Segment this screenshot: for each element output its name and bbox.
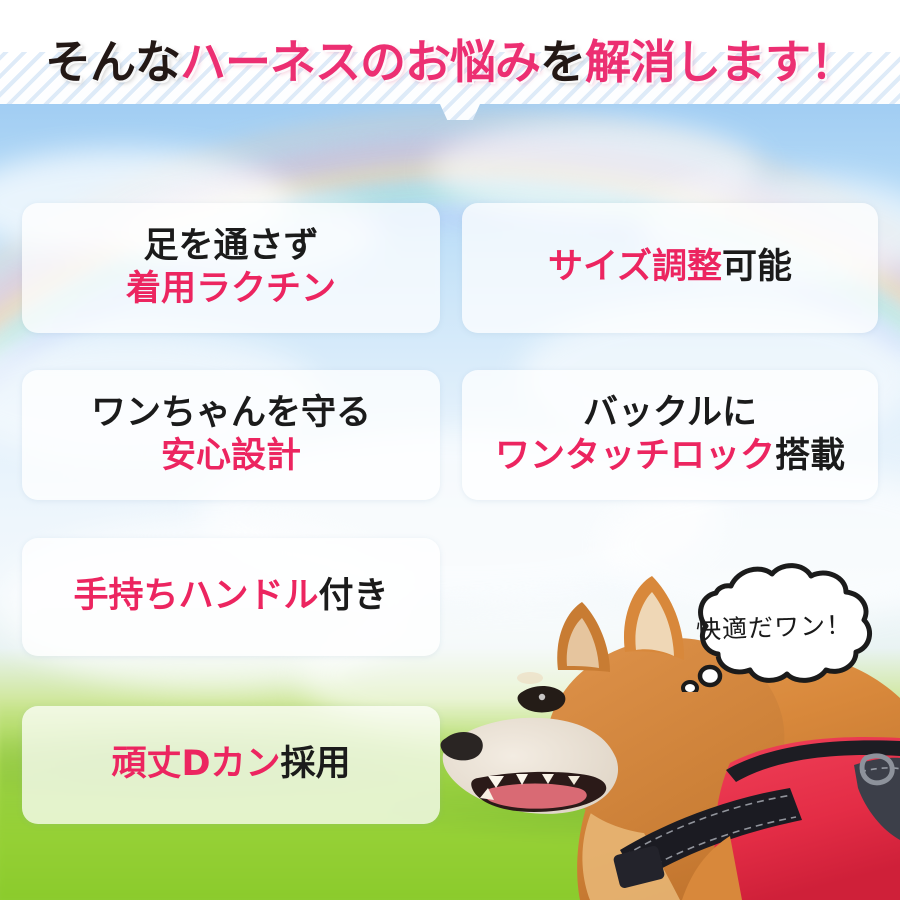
- feature-text-no-leg-insert-1-0: 着用ラクチン: [126, 269, 336, 309]
- feature-line: ワンちゃんを守る: [91, 392, 371, 435]
- feature-text-one-touch-lock-buckle-1-1: 搭載: [775, 436, 845, 476]
- feature-box-size-adjustable[interactable]: サイズ調整可能: [462, 203, 878, 333]
- page-title-segment-2: を: [540, 26, 585, 92]
- page-title-segment-0: そんな: [45, 26, 180, 92]
- page-title-segment-3: 解消します！: [585, 26, 855, 92]
- feature-box-one-touch-lock-buckle[interactable]: バックルにワンタッチロック搭載: [462, 370, 878, 500]
- feature-text-safe-design-1-0: 安心設計: [161, 436, 301, 476]
- feature-box-safe-design[interactable]: ワンちゃんを守る安心設計: [22, 370, 440, 500]
- feature-line: 手持ちハンドル付き: [73, 575, 388, 618]
- feature-line: 足を通さず: [143, 225, 318, 268]
- feature-text-one-touch-lock-buckle-0-0: バックルに: [583, 393, 757, 433]
- feature-text-handle-included-0-1: 付き: [319, 576, 389, 616]
- feature-text-sturdy-d-ring-0-1: 採用: [281, 744, 351, 784]
- feature-text-size-adjustable-0-1: 可能: [722, 247, 792, 287]
- feature-line: 頑丈Dカン採用: [111, 743, 350, 786]
- feature-box-no-leg-insert[interactable]: 足を通さず着用ラクチン: [22, 203, 440, 333]
- speech-bubble: 快適だワン！: [668, 560, 880, 692]
- feature-line: 安心設計: [161, 435, 301, 478]
- page-title-segment-1: ハーネスのお悩み: [180, 26, 540, 92]
- feature-text-no-leg-insert-0-0: 足を通さず: [143, 226, 318, 266]
- feature-text-one-touch-lock-buckle-1-0: ワンタッチロック: [495, 436, 775, 476]
- advertisement-canvas: 快適だワン！ 足を通さず着用ラクチン サイズ調整可能 ワンちゃんを守る安心設計 …: [0, 0, 900, 900]
- feature-line: バックルに: [583, 392, 757, 435]
- feature-text-safe-design-0-0: ワンちゃんを守る: [91, 393, 371, 433]
- page-title: そんなハーネスのお悩みを解消します！: [0, 26, 900, 92]
- feature-text-sturdy-d-ring-0-0: 頑丈Dカン: [111, 744, 280, 784]
- speech-bubble-text: 快適だワン！: [666, 556, 882, 695]
- feature-text-handle-included-0-0: 手持ちハンドル: [73, 576, 318, 616]
- feature-text-size-adjustable-0-0: サイズ調整: [548, 247, 722, 287]
- feature-line: 着用ラクチン: [126, 268, 336, 311]
- feature-line: ワンタッチロック搭載: [495, 435, 845, 478]
- feature-line: サイズ調整可能: [548, 246, 792, 289]
- feature-box-sturdy-d-ring[interactable]: 頑丈Dカン採用: [22, 706, 440, 824]
- feature-box-handle-included[interactable]: 手持ちハンドル付き: [22, 538, 440, 656]
